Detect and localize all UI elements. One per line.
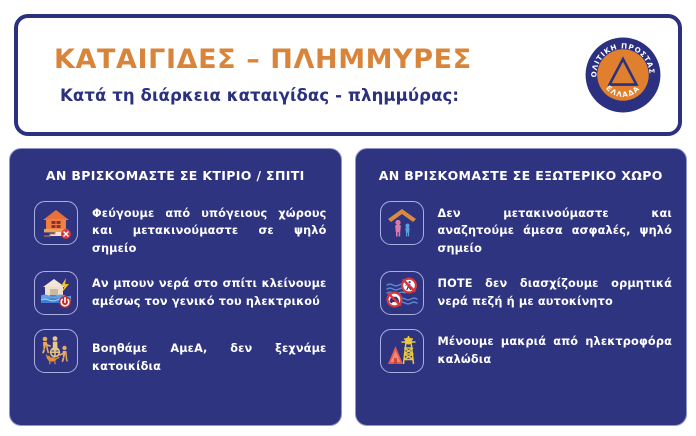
header-banner: ΚΑΤΑΙΓΙΔΕΣ – ΠΛΗΜΜΥΡΕΣ Κατά τη διάρκεια … [14, 14, 682, 136]
list-item-text: ΠΟΤΕ δεν διασχίζουμε ορμητικά νερά πεζή … [424, 269, 673, 310]
list-item-text: Φεύγουμε από υπόγειους χώρους και μετακι… [78, 199, 327, 258]
list-item: Βοηθάμε ΑμεΑ, δεν ξεχνάμε κατοικίδια [24, 327, 327, 375]
no-crossing-floodwater-icon [380, 271, 424, 315]
panel-indoors: ΑΝ ΒΡΙΣΚΟΜΑΣΤΕ ΣΕ ΚΤΙΡΙΟ / ΣΠΙΤΙ Φεύγουμ… [9, 148, 342, 426]
house-basement-prohibited-icon [34, 201, 78, 245]
civil-protection-logo-icon: ΠΟΛΙΤΙΚΗ ΠΡΟΣΤΑΣΙΑ ΕΛΛΑΔΑ [584, 36, 662, 114]
disabled-assistance-pets-icon [34, 329, 78, 373]
panel-outdoors: ΑΝ ΒΡΙΣΚΟΜΑΣΤΕ ΣΕ ΕΞΩΤΕΡΙΚΟ ΧΩΡΟ [355, 148, 688, 426]
logo-container: ΠΟΛΙΤΙΚΗ ΠΡΟΣΤΑΣΙΑ ΕΛΛΑΔΑ [568, 36, 678, 114]
header-text-block: ΚΑΤΑΙΓΙΔΕΣ – ΠΛΗΜΜΥΡΕΣ Κατά τη διάρκεια … [18, 45, 568, 106]
list-item-text: Αν μπουν νερά στο σπίτι κλείνουμε αμέσως… [78, 269, 327, 310]
list-item-text: Δεν μετακινούμαστε και αναζητούμε άμεσα … [424, 199, 673, 258]
list-item: Μένουμε μακριά από ηλεκτροφόρα καλώδια [370, 327, 673, 373]
panel-indoors-header: ΑΝ ΒΡΙΣΚΟΜΑΣΤΕ ΣΕ ΚΤΙΡΙΟ / ΣΠΙΤΙ [24, 169, 327, 183]
list-item-text: Βοηθάμε ΑμεΑ, δεν ξεχνάμε κατοικίδια [78, 327, 327, 375]
list-item: Δεν μετακινούμαστε και αναζητούμε άμεσα … [370, 199, 673, 258]
page-subtitle: Κατά τη διάρκεια καταιγίδας - πλημμύρας: [54, 87, 558, 105]
shelter-high-ground-icon [380, 201, 424, 245]
panels-container: ΑΝ ΒΡΙΣΚΟΜΑΣΤΕ ΣΕ ΚΤΙΡΙΟ / ΣΠΙΤΙ Φεύγουμ… [9, 148, 687, 426]
panel-outdoors-header: ΑΝ ΒΡΙΣΚΟΜΑΣΤΕ ΣΕ ΕΞΩΤΕΡΙΚΟ ΧΩΡΟ [370, 169, 673, 183]
list-item: Φεύγουμε από υπόγειους χώρους και μετακι… [24, 199, 327, 258]
list-item: Αν μπουν νερά στο σπίτι κλείνουμε αμέσως… [24, 269, 327, 315]
flooded-house-power-off-icon [34, 271, 78, 315]
list-item-text: Μένουμε μακριά από ηλεκτροφόρα καλώδια [424, 327, 673, 368]
list-item: ΠΟΤΕ δεν διασχίζουμε ορμητικά νερά πεζή … [370, 269, 673, 315]
power-lines-warning-icon [380, 329, 424, 373]
page-title: ΚΑΤΑΙΓΙΔΕΣ – ΠΛΗΜΜΥΡΕΣ [54, 45, 558, 75]
